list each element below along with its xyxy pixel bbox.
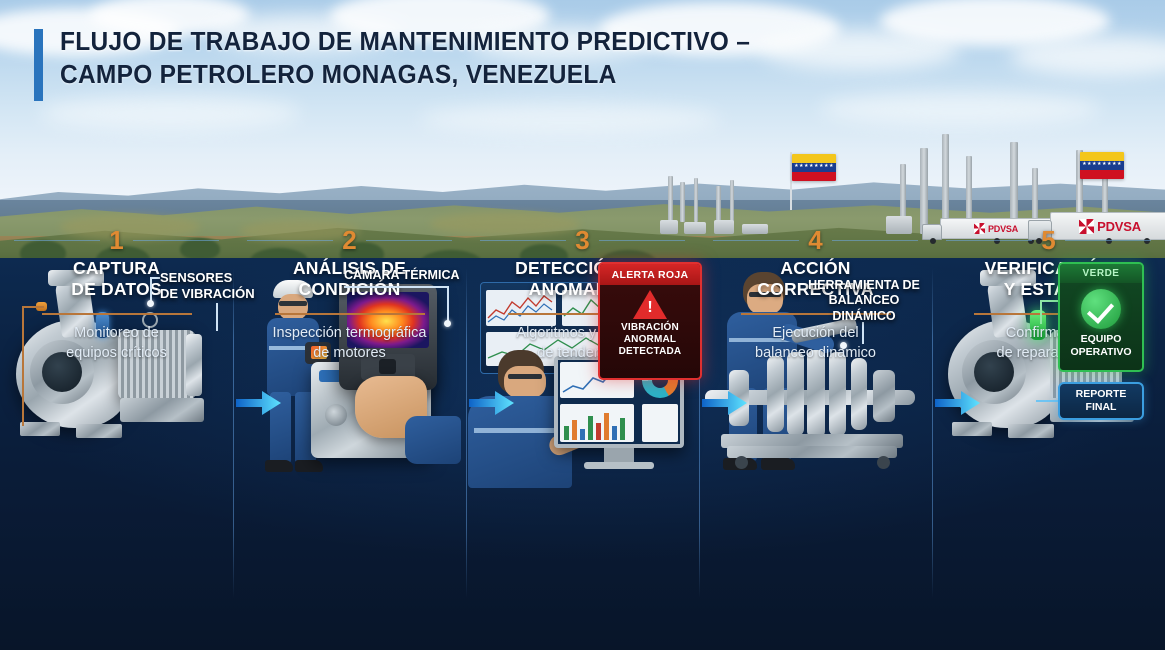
alert-header: ALERTA ROJA <box>600 264 700 285</box>
callout-balancing-tool: HERRAMIENTA DE BALANCEO DINÁMICO <box>802 278 926 324</box>
report-final-badge: REPORTE FINAL <box>1058 382 1144 420</box>
leader-dot <box>840 342 847 349</box>
check-circle-icon <box>1081 289 1121 329</box>
alert-message: VIBRACIÓN ANORMAL DETECTADA <box>600 322 700 359</box>
step-number-row: 3 <box>480 225 685 255</box>
flag-stars: ★★★★★★★★ <box>794 163 834 169</box>
title-text: FLUJO DE TRABAJO DE MANTENIMIENTO PREDIC… <box>60 26 750 101</box>
step-number: 5 <box>1041 227 1055 253</box>
title-accent-bar <box>34 29 43 101</box>
callout-vibration-sensors: SENSORES DE VIBRACIÓN <box>160 270 255 302</box>
flow-arrow-1-2 <box>236 388 282 418</box>
callout-thermal-camera: CÁMARA TÉRMICA <box>344 268 460 282</box>
step-number: 2 <box>342 227 356 253</box>
infographic-canvas: FLUJO DE TRABAJO DE MANTENIMIENTO PREDIC… <box>0 0 1165 650</box>
flow-arrow-4-5 <box>935 388 981 418</box>
flow-arrow-3-4 <box>702 388 748 418</box>
bar-chart-icon <box>560 404 634 442</box>
step-description: Monitoreo de equipos críticos <box>10 324 223 363</box>
step-number-row: 2 <box>247 225 452 255</box>
leader-dot <box>147 300 154 307</box>
leader-dot <box>444 320 451 327</box>
verify-header: VERDE <box>1060 264 1142 283</box>
step-number-row: 1 <box>14 225 219 255</box>
step-number: 1 <box>109 227 123 253</box>
step-2[interactable] <box>233 258 466 650</box>
step-number: 4 <box>808 227 822 253</box>
flag-stars: ★★★★★★★★ <box>1082 161 1122 167</box>
step-rule <box>42 313 192 315</box>
step-rule <box>275 313 425 315</box>
flow-arrow-2-3 <box>469 388 515 418</box>
red-alert-card: ALERTA ROJA VIBRACIÓN ANORMAL DETECTADA <box>598 262 702 380</box>
step-description: Inspección termográfica de motores <box>243 324 456 363</box>
step-number: 3 <box>575 227 589 253</box>
green-verification-card: VERDE EQUIPO OPERATIVO <box>1058 262 1144 372</box>
verify-status: EQUIPO OPERATIVO <box>1060 333 1142 358</box>
page-title: FLUJO DE TRABAJO DE MANTENIMIENTO PREDIC… <box>34 26 779 101</box>
step-number-row: 5 <box>946 225 1151 255</box>
step-description: Ejecución del balanceo dinámico <box>709 324 922 363</box>
step-number-row: 4 <box>713 225 918 255</box>
warning-triangle-icon <box>633 290 667 319</box>
step-1[interactable] <box>0 258 233 650</box>
